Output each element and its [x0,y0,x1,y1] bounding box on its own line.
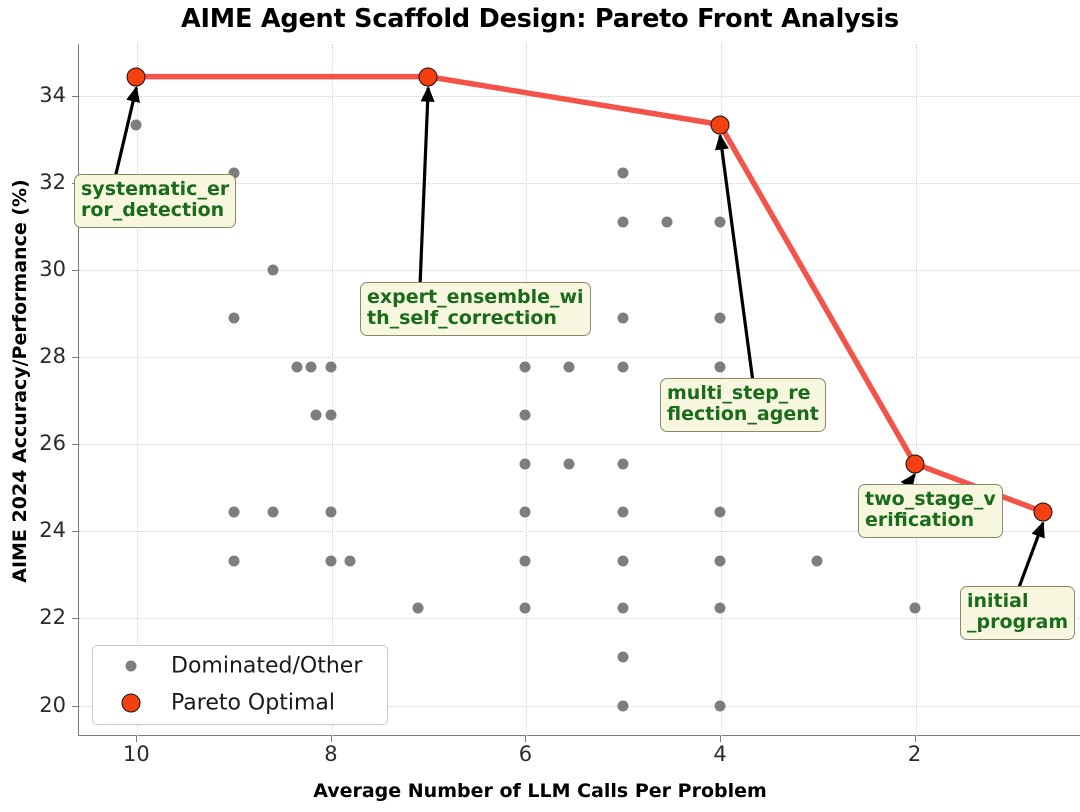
scatter-point-dominated [909,603,920,614]
legend-box: Dominated/Other Pareto Optimal [92,645,388,725]
scatter-point-dominated [325,410,336,421]
scatter-point-pareto [711,115,730,134]
x-tick-mark [915,736,916,742]
x-tick-label: 8 [324,742,337,766]
annotation-label: multi_step_re flection_agent [660,378,826,432]
chart-title: AIME Agent Scaffold Design: Pareto Front… [0,4,1080,34]
x-tick-mark [525,736,526,742]
scatter-point-dominated [617,651,628,662]
scatter-point-dominated [715,555,726,566]
scatter-point-dominated [617,216,628,227]
scatter-point-dominated [564,458,575,469]
scatter-point-dominated [715,361,726,372]
chart-root: AIME Agent Scaffold Design: Pareto Front… [0,0,1080,812]
scatter-point-dominated [715,506,726,517]
scatter-point-pareto [905,454,924,473]
scatter-point-dominated [617,361,628,372]
scatter-point-dominated [228,506,239,517]
annotation-label: expert_ensemble_wi th_self_correction [360,282,591,336]
scatter-point-dominated [311,410,322,421]
scatter-point-dominated [661,216,672,227]
gridline-horizontal [79,618,1080,619]
scatter-point-dominated [520,555,531,566]
scatter-point-dominated [617,603,628,614]
y-axis-title: AIME 2024 Accuracy/Performance (%) [9,31,31,731]
scatter-point-dominated [617,700,628,711]
gridline-vertical [137,44,138,736]
legend-label-pareto: Pareto Optimal [171,691,335,716]
gridline-vertical [332,44,333,736]
scatter-point-dominated [267,265,278,276]
scatter-point-dominated [617,168,628,179]
annotation-label: two_stage_v erification [858,484,1003,538]
scatter-point-pareto [1034,502,1053,521]
y-tick-mark [72,531,78,532]
x-tick-label: 6 [519,742,532,766]
y-tick-mark [72,270,78,271]
y-tick-mark [72,96,78,97]
gridline-horizontal [79,270,1080,271]
scatter-point-dominated [617,506,628,517]
gridline-horizontal [79,444,1080,445]
legend-item-pareto: Pareto Optimal [93,686,387,720]
scatter-point-dominated [617,458,628,469]
x-tick-mark [331,736,332,742]
x-tick-label: 10 [123,742,150,766]
legend-marker-dominated-icon [126,661,137,672]
scatter-point-dominated [520,506,531,517]
scatter-point-dominated [325,361,336,372]
scatter-point-dominated [325,506,336,517]
x-axis-title: Average Number of LLM Calls Per Problem [0,780,1080,802]
scatter-point-dominated [325,555,336,566]
scatter-point-dominated [345,555,356,566]
scatter-point-dominated [812,555,823,566]
scatter-point-dominated [228,313,239,324]
scatter-point-pareto [127,67,146,86]
scatter-point-dominated [617,555,628,566]
scatter-point-dominated [413,603,424,614]
y-tick-mark [72,357,78,358]
scatter-point-dominated [715,216,726,227]
gridline-horizontal [79,96,1080,97]
scatter-point-dominated [715,313,726,324]
y-tick-mark [72,706,78,707]
gridline-vertical [526,44,527,736]
scatter-point-dominated [715,700,726,711]
annotation-label: systematic_er ror_detection [74,174,236,228]
x-tick-label: 2 [908,742,921,766]
scatter-point-dominated [520,603,531,614]
legend-item-dominated: Dominated/Other [93,649,387,683]
scatter-point-pareto [419,67,438,86]
scatter-point-dominated [520,410,531,421]
x-tick-mark [720,736,721,742]
y-tick-mark [72,618,78,619]
plot-area [78,44,1080,736]
gridline-horizontal [79,357,1080,358]
scatter-point-dominated [228,555,239,566]
x-tick-label: 4 [713,742,726,766]
legend-marker-pareto-icon [122,694,141,713]
scatter-point-dominated [564,361,575,372]
legend-label-dominated: Dominated/Other [171,654,362,679]
y-tick-mark [72,444,78,445]
gridline-vertical [916,44,917,736]
scatter-point-dominated [617,313,628,324]
scatter-point-dominated [306,361,317,372]
scatter-point-dominated [131,119,142,130]
scatter-point-dominated [520,458,531,469]
scatter-point-dominated [715,603,726,614]
x-tick-mark [136,736,137,742]
annotation-label: initial _program [960,586,1075,640]
scatter-point-dominated [520,361,531,372]
scatter-point-dominated [291,361,302,372]
scatter-point-dominated [267,506,278,517]
